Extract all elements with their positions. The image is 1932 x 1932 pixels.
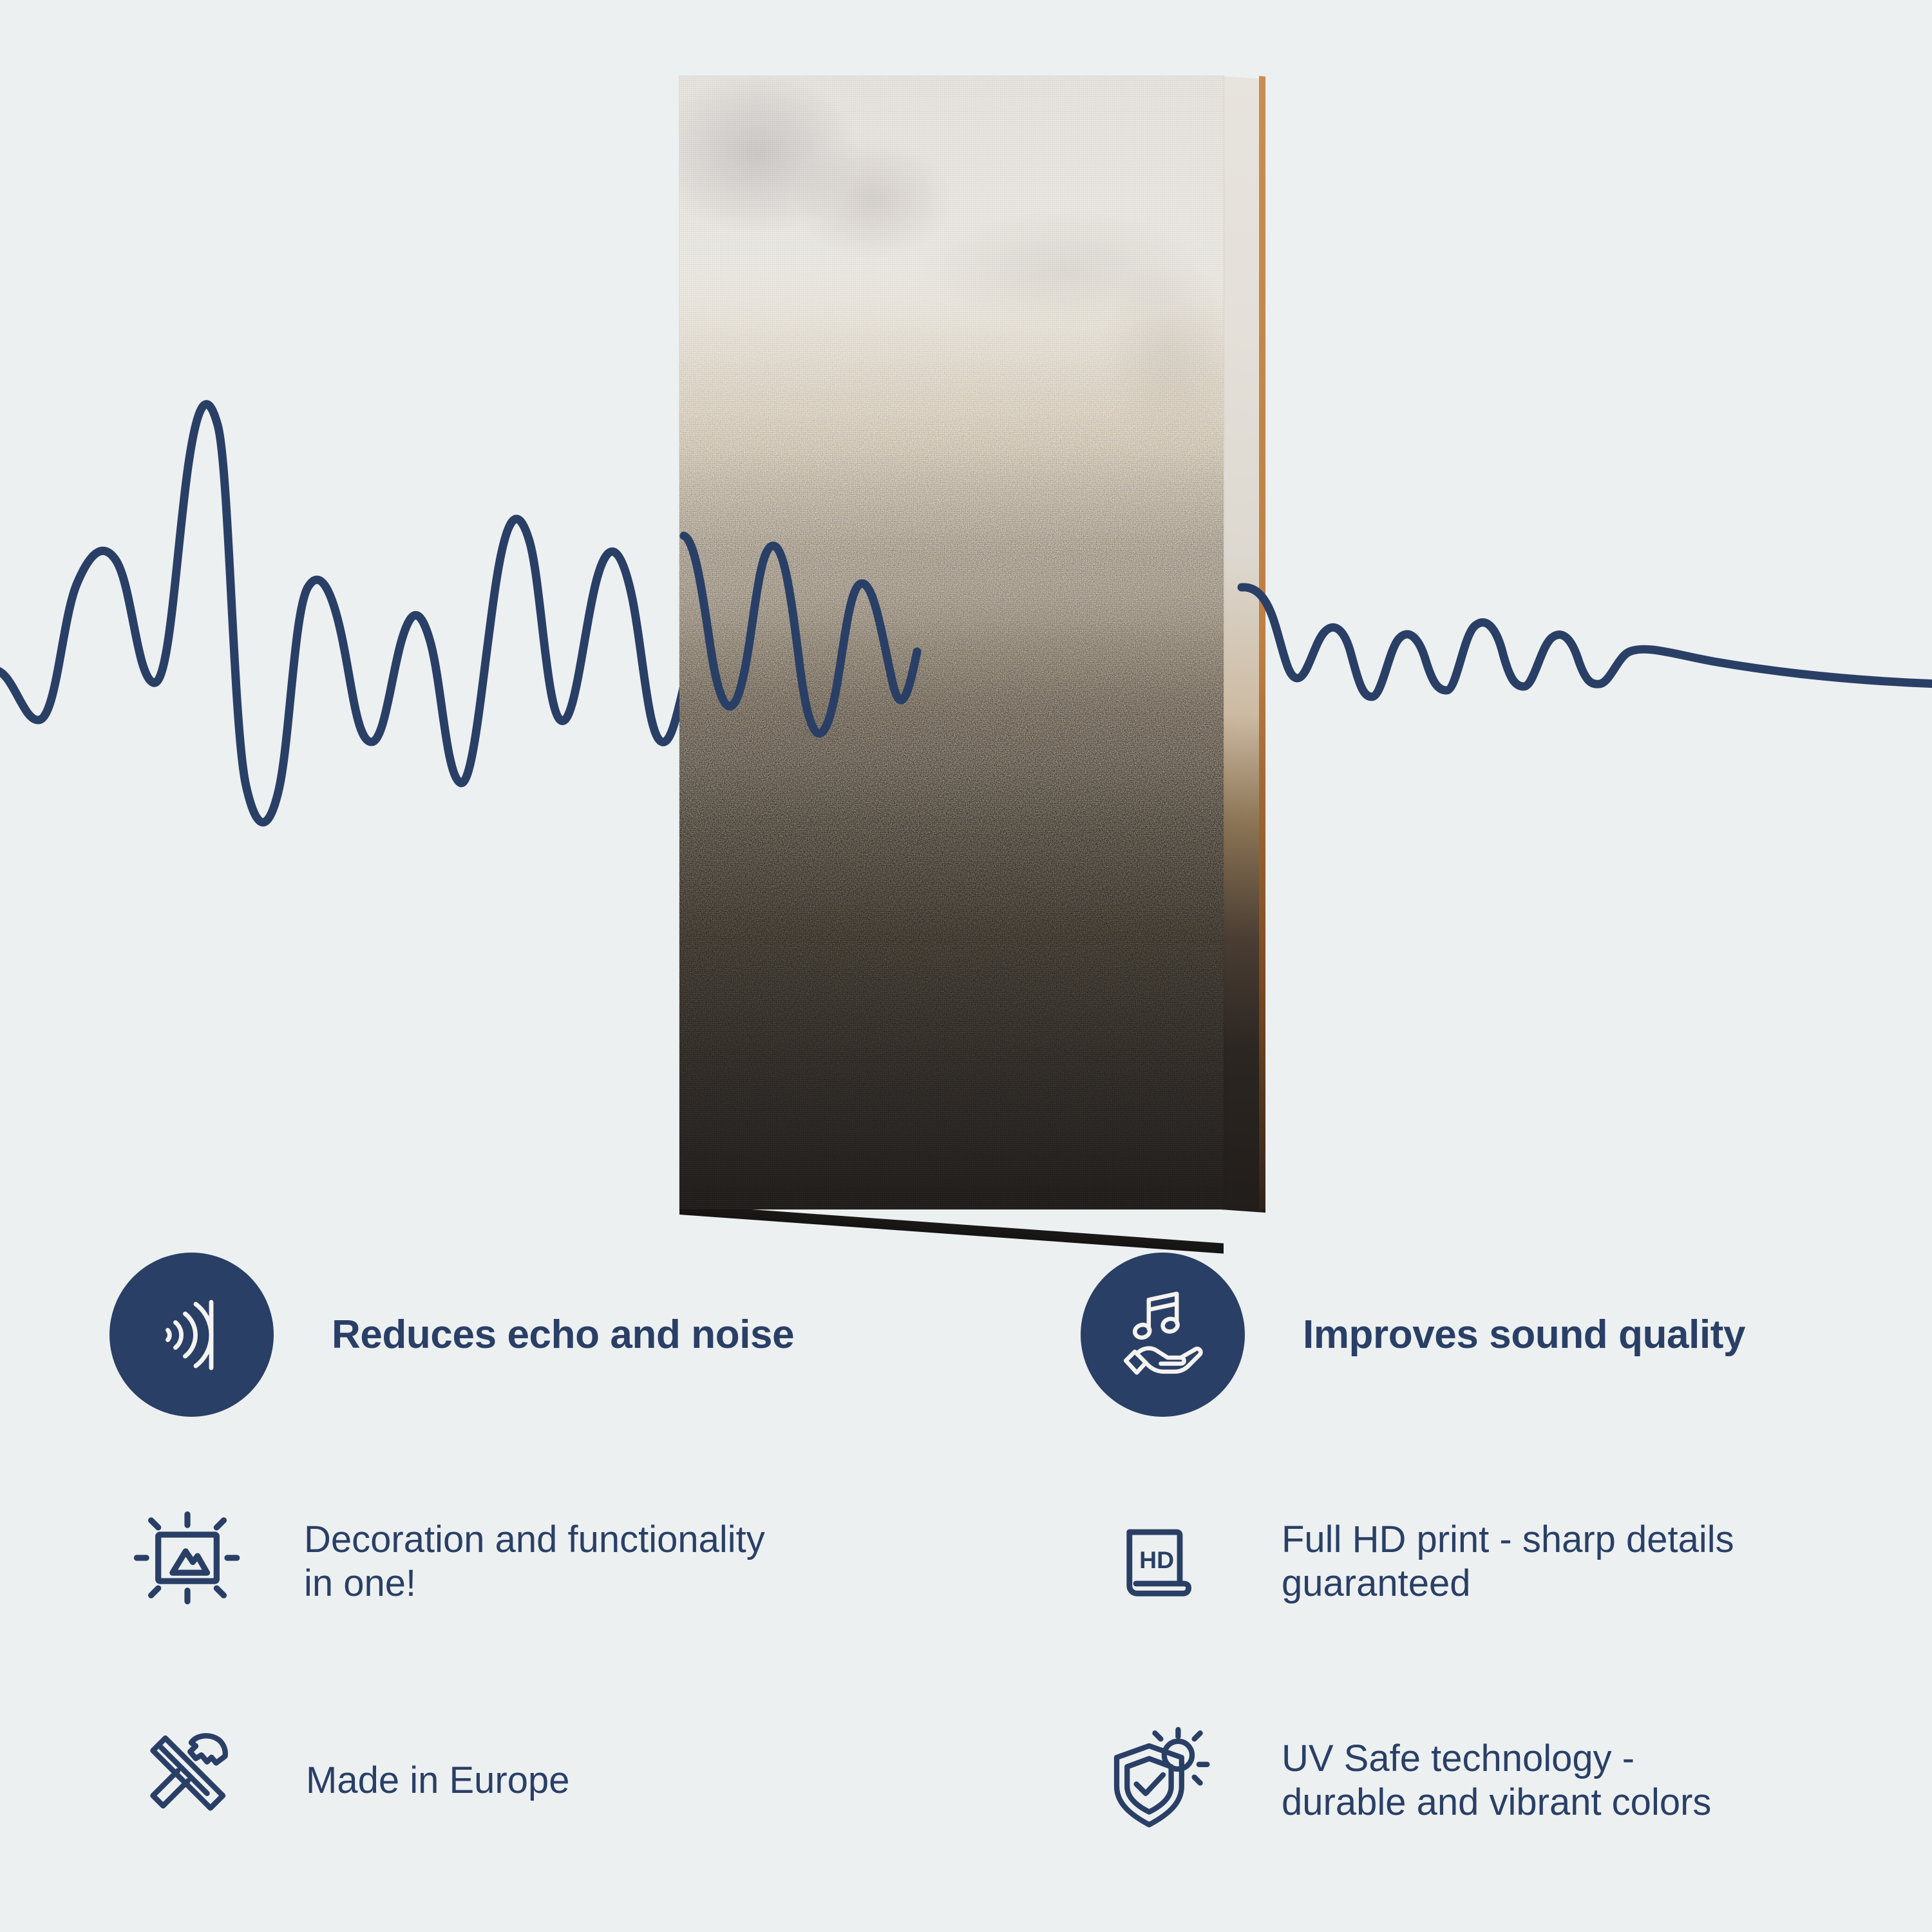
feature-label-decoration-line1: Decoration and functionality — [304, 1518, 765, 1562]
canvas-edge-highlight — [1259, 76, 1265, 1210]
shield-sun-glyph — [1111, 1723, 1227, 1839]
canvas-artwork — [679, 76, 1259, 1209]
hammer-and-ruler-icon — [113, 1700, 274, 1861]
hammer-and-ruler-glyph — [137, 1725, 250, 1837]
product-infographic: Reduces echo and noise Improves sound qu… — [0, 0, 1932, 1932]
canvas-face — [679, 76, 1224, 1209]
sound-wave-panel-icon — [109, 1253, 274, 1417]
feature-label-made-europe: Made in Europe — [306, 1759, 569, 1803]
feature-improves-sound[interactable]: Improves sound quality — [1081, 1253, 1745, 1417]
feature-label-uv-safe-line2: durable and vibrant colors — [1282, 1781, 1711, 1824]
feature-full-hd-print[interactable]: HD Full HD print - sharp details guarant… — [1088, 1481, 1734, 1642]
feature-decoration-functionality[interactable]: Decoration and functionality in one! — [111, 1481, 765, 1642]
feature-label-improves-sound: Improves sound quality — [1303, 1312, 1745, 1358]
music-note-in-hand-glyph — [1113, 1285, 1213, 1385]
feature-label-hd: Full HD print - sharp details guaranteed — [1282, 1518, 1734, 1606]
feature-label-uv-safe: UV Safe technology - durable and vibrant… — [1282, 1737, 1711, 1825]
shining-picture-frame-glyph — [132, 1502, 251, 1622]
feature-uv-safe[interactable]: UV Safe technology - durable and vibrant… — [1088, 1700, 1711, 1861]
music-note-in-hand-icon — [1081, 1253, 1245, 1417]
feature-label-made-europe-line1: Made in Europe — [306, 1759, 569, 1803]
hd-print-glyph: HD — [1114, 1507, 1224, 1616]
canvas-weave-texture — [679, 76, 1224, 1209]
sound-wave-panel-glyph — [144, 1287, 240, 1383]
shield-sun-icon — [1088, 1700, 1249, 1861]
feature-label-uv-safe-line1: UV Safe technology - — [1282, 1737, 1711, 1781]
feature-reduces-echo[interactable]: Reduces echo and noise — [109, 1253, 794, 1417]
svg-text:HD: HD — [1139, 1546, 1174, 1573]
feature-label-hd-line2: guaranteed — [1282, 1562, 1734, 1605]
feature-label-decoration: Decoration and functionality in one! — [304, 1518, 765, 1606]
shining-picture-frame-icon — [111, 1481, 272, 1642]
feature-made-in-europe[interactable]: Made in Europe — [113, 1700, 569, 1861]
feature-label-decoration-line2: in one! — [304, 1562, 765, 1605]
feature-label-hd-line1: Full HD print - sharp details — [1282, 1518, 1734, 1562]
canvas-bottom-edge — [679, 1204, 1224, 1254]
hd-print-icon: HD — [1088, 1481, 1249, 1642]
feature-label-reduces-echo: Reduces echo and noise — [332, 1312, 794, 1358]
